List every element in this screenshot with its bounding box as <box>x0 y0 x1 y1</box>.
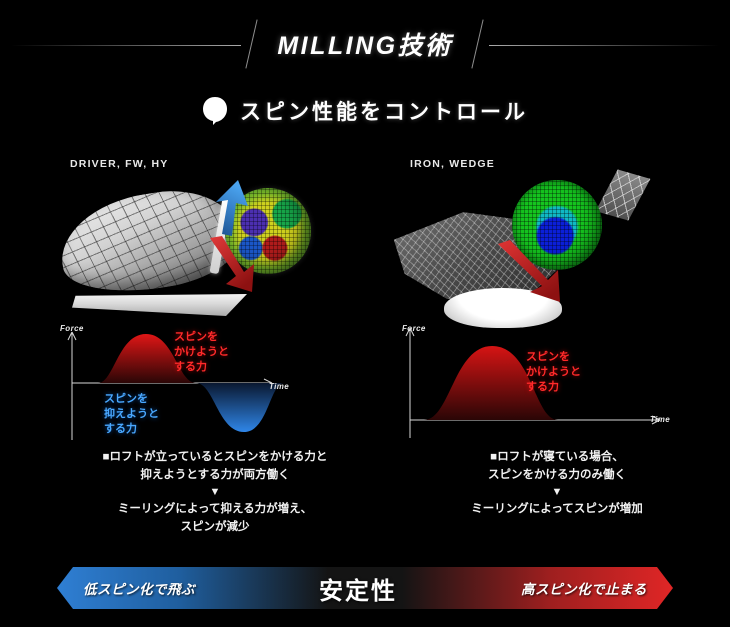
driver-caption-line4: スピンが減少 <box>50 518 380 536</box>
speech-bubble-icon <box>202 96 228 126</box>
iron-caption-line3: ミーリングによってスピンが増加 <box>392 500 722 518</box>
driver-chart-ylabel: Force <box>60 324 84 333</box>
page-title: MILLING技術 <box>263 26 466 62</box>
driver-art <box>50 172 380 322</box>
iron-caption-arrow-icon: ▼ <box>392 484 722 500</box>
subtitle-row: スピン性能をコントロール <box>0 96 730 126</box>
iron-caption: ■ロフトが寝ている場合、 スピンをかける力のみ働く ▼ ミーリングによってスピン… <box>392 448 722 518</box>
iron-chart-xlabel: Time <box>650 415 670 424</box>
header-slash-right-icon <box>467 19 489 69</box>
page-header: MILLING技術 <box>0 18 730 70</box>
arrow-down-red-icon <box>496 240 574 308</box>
iron-art <box>392 172 722 322</box>
arrow-down-red-icon <box>206 234 262 296</box>
panel-label-iron: IRON, WEDGE <box>410 158 495 170</box>
iron-force-chart: Force Time スピンをかけようとする力 <box>398 320 722 445</box>
header-rule-left <box>11 45 241 46</box>
driver-caption: ■ロフトが立っているとスピンをかける力と 抑えようとする力が両方働く ▼ ミーリ… <box>50 448 380 536</box>
bar-right-label: 高スピン化で止まる <box>521 578 647 598</box>
driver-note-red: スピンをかけようとする力 <box>174 330 229 375</box>
panel-iron: IRON, WEDGE Force Time <box>392 150 722 560</box>
driver-chart-xlabel: Time <box>269 382 289 391</box>
shaft-mesh-icon <box>596 170 651 221</box>
bar-center-label: 安定性 <box>319 571 397 606</box>
iron-note-red: スピンをかけようとする力 <box>526 350 581 395</box>
driver-force-chart: Force Time スピンをかけようとする力 スピンを抑えようとする力 <box>56 320 380 445</box>
bar-left-label: 低スピン化で飛ぶ <box>83 578 195 598</box>
driver-caption-line3: ミーリングによって抑える力が増え、 <box>50 500 380 518</box>
panel-label-driver: DRIVER, FW, HY <box>70 158 168 170</box>
subtitle-text: スピン性能をコントロール <box>240 96 528 126</box>
iron-caption-line2: スピンをかける力のみ働く <box>392 466 722 484</box>
header-slash-left-icon <box>241 19 263 69</box>
driver-caption-arrow-icon: ▼ <box>50 484 380 500</box>
iron-caption-line1: ■ロフトが寝ている場合、 <box>392 448 722 466</box>
spin-spectrum-bar: 低スピン化で飛ぶ 安定性 高スピン化で止まる <box>57 567 673 609</box>
driver-caption-line2: 抑えようとする力が両方働く <box>50 466 380 484</box>
driver-sole-shadow <box>72 294 247 316</box>
arrow-up-blue-icon <box>208 178 254 238</box>
iron-chart-ylabel: Force <box>402 324 426 333</box>
driver-note-blue: スピンを抑えようとする力 <box>104 392 159 437</box>
header-rule-right <box>489 45 719 46</box>
driver-caption-line1: ■ロフトが立っているとスピンをかける力と <box>50 448 380 466</box>
panel-driver: DRIVER, FW, HY <box>50 150 380 560</box>
